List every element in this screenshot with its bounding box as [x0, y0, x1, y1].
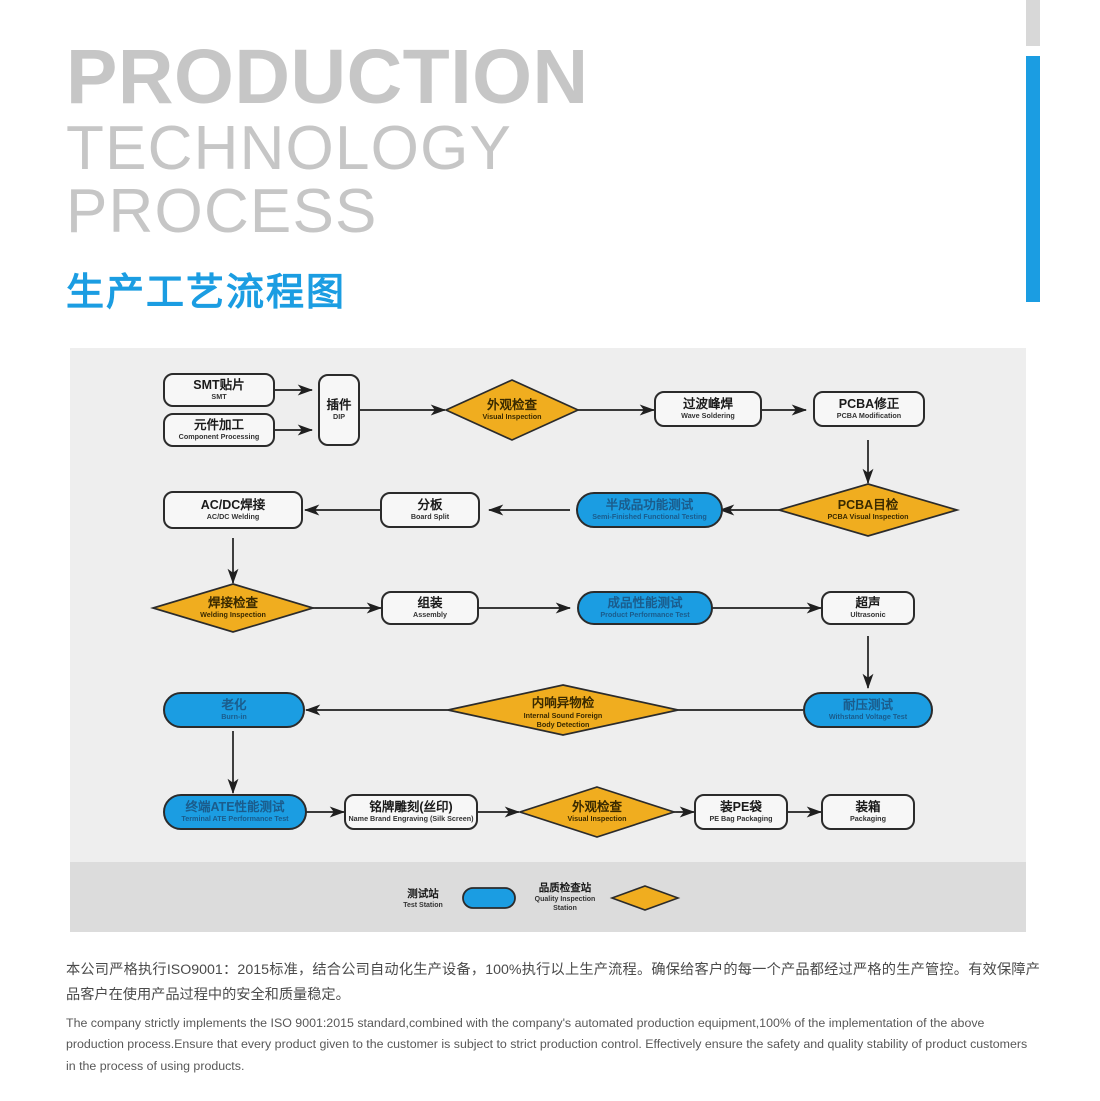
node-welding-inspection[interactable]: 焊接检查 Welding Inspection: [167, 589, 299, 627]
node-burn-in-en: Burn-in: [221, 713, 247, 722]
node-packaging-en: Packaging: [850, 815, 886, 824]
node-visual-inspection-1[interactable]: 外观检查 Visual Inspection: [446, 390, 578, 430]
node-pe-bag-packaging[interactable]: 装PE袋 PE Bag Packaging: [695, 795, 787, 829]
footer-paragraph-cn: 本公司严格执行ISO9001：2015标准，结合公司自动化生产设备，100%执行…: [66, 958, 1040, 1008]
node-component-processing-cn: 元件加工: [194, 418, 244, 432]
node-product-performance-test[interactable]: 成品性能测试 Product Performance Test: [578, 592, 712, 624]
node-welding-inspection-en: Welding Inspection: [200, 611, 266, 620]
node-acdc-welding[interactable]: AC/DC焊接 AC/DC Welding: [164, 492, 302, 528]
node-burn-in-cn: 老化: [221, 698, 246, 712]
node-board-split-cn: 分板: [417, 498, 442, 512]
node-name-brand-engraving-cn: 铭牌雕刻(丝印): [369, 800, 452, 814]
node-visual-inspection-1-cn: 外观检查: [487, 398, 537, 412]
node-semi-finished-functional-testing-en: Semi-Finished Functional Testing: [592, 513, 706, 522]
node-dip[interactable]: 插件 DIP: [319, 375, 359, 445]
node-component-processing[interactable]: 元件加工 Component Processing: [164, 414, 274, 446]
legend-quality-inspection-station: 品质检查站 Quality Inspection Station: [524, 882, 606, 914]
node-component-processing-en: Component Processing: [179, 433, 260, 442]
node-wave-soldering-en: Wave Soldering: [681, 412, 735, 421]
node-ultrasonic[interactable]: 超声 Ultrasonic: [822, 592, 914, 624]
legend-test-station-en: Test Station: [388, 902, 458, 911]
node-name-brand-engraving-en: Name Brand Engraving (Silk Screen): [348, 815, 473, 824]
node-smt-en: SMT: [211, 393, 226, 402]
flowchart-graphics: [0, 0, 1100, 1101]
node-pcba-visual-inspection-en: PCBA Visual Inspection: [827, 513, 908, 522]
node-board-split-en: Board Split: [411, 513, 449, 522]
footer-paragraph-en: The company strictly implements the ISO …: [66, 1013, 1040, 1077]
node-assembly[interactable]: 组装 Assembly: [382, 592, 478, 624]
legend-quality-inspection-station-en2: Station: [524, 905, 606, 914]
node-pcba-modification-en: PCBA Modification: [837, 412, 901, 421]
legend-test-station: 测试站 Test Station: [388, 888, 458, 910]
node-ultrasonic-en: Ultrasonic: [850, 611, 885, 620]
node-smt-cn: SMT贴片: [193, 378, 244, 392]
node-visual-inspection-2-en: Visual Inspection: [568, 815, 627, 824]
node-smt[interactable]: SMT贴片 SMT: [164, 374, 274, 406]
node-internal-sound-foreign-body-detection-en1: Internal Sound Foreign: [524, 712, 603, 721]
node-welding-inspection-cn: 焊接检查: [208, 596, 258, 610]
node-acdc-welding-cn: AC/DC焊接: [201, 498, 266, 512]
node-semi-finished-functional-testing[interactable]: 半成品功能测试 Semi-Finished Functional Testing: [577, 493, 722, 527]
node-dip-en: DIP: [333, 413, 345, 422]
legend-test-station-cn: 测试站: [388, 888, 458, 901]
node-visual-inspection-2-cn: 外观检查: [572, 800, 622, 814]
node-wave-soldering-cn: 过波峰焊: [683, 397, 733, 411]
legend-quality-inspection-station-en1: Quality Inspection: [524, 896, 606, 905]
node-assembly-en: Assembly: [413, 611, 447, 620]
node-internal-sound-foreign-body-detection-en2: Body Detection: [537, 721, 590, 730]
node-acdc-welding-en: AC/DC Welding: [207, 513, 260, 522]
node-dip-cn: 插件: [326, 398, 351, 412]
node-pcba-modification[interactable]: PCBA修正 PCBA Modification: [814, 392, 924, 426]
node-internal-sound-foreign-body-detection[interactable]: 内响异物检 Internal Sound Foreign Body Detect…: [490, 692, 636, 734]
node-pe-bag-packaging-cn: 装PE袋: [720, 800, 762, 814]
node-pe-bag-packaging-en: PE Bag Packaging: [709, 815, 772, 824]
node-pcba-visual-inspection-cn: PCBA目检: [838, 498, 898, 512]
node-burn-in[interactable]: 老化 Burn-in: [164, 693, 304, 727]
node-assembly-cn: 组装: [417, 596, 442, 610]
node-internal-sound-foreign-body-detection-cn: 内响异物检: [532, 696, 595, 710]
node-product-performance-test-cn: 成品性能测试: [607, 596, 682, 610]
node-pcba-modification-cn: PCBA修正: [839, 397, 899, 411]
node-wave-soldering[interactable]: 过波峰焊 Wave Soldering: [655, 392, 761, 426]
node-terminal-ate-performance-test-cn: 终端ATE性能测试: [185, 800, 284, 814]
node-withstand-voltage-test-cn: 耐压测试: [843, 698, 893, 712]
node-terminal-ate-performance-test-en: Terminal ATE Performance Test: [181, 815, 288, 824]
node-pcba-visual-inspection[interactable]: PCBA目检 PCBA Visual Inspection: [791, 490, 945, 530]
node-packaging[interactable]: 装箱 Packaging: [822, 795, 914, 829]
node-ultrasonic-cn: 超声: [855, 596, 880, 610]
node-visual-inspection-2[interactable]: 外观检查 Visual Inspection: [531, 793, 663, 831]
node-terminal-ate-performance-test[interactable]: 终端ATE性能测试 Terminal ATE Performance Test: [164, 795, 306, 829]
node-packaging-cn: 装箱: [855, 800, 880, 814]
node-semi-finished-functional-testing-cn: 半成品功能测试: [606, 498, 694, 512]
node-visual-inspection-1-en: Visual Inspection: [483, 413, 542, 422]
node-product-performance-test-en: Product Performance Test: [600, 611, 689, 620]
node-name-brand-engraving[interactable]: 铭牌雕刻(丝印) Name Brand Engraving (Silk Scre…: [345, 795, 477, 829]
node-withstand-voltage-test-en: Withstand Voltage Test: [829, 713, 907, 722]
legend-quality-inspection-station-cn: 品质检查站: [524, 882, 606, 895]
node-board-split[interactable]: 分板 Board Split: [381, 493, 479, 527]
node-withstand-voltage-test[interactable]: 耐压测试 Withstand Voltage Test: [804, 693, 932, 727]
